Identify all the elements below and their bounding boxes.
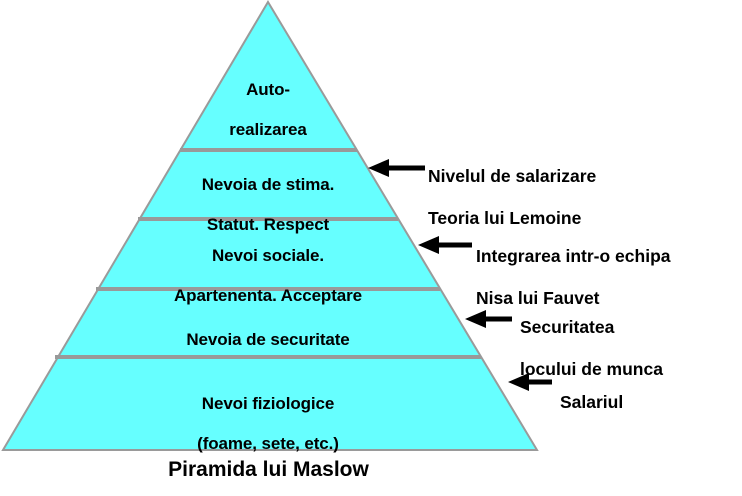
tier-label-line: Nevoia de stima.: [118, 175, 418, 195]
annotation-line: Integrarea intr-o echipa: [476, 246, 742, 267]
annotation-label-physiological: Salariul: [560, 371, 742, 434]
tier-label-line: Auto-: [118, 80, 418, 100]
tier-label-line: Nevoi fiziologice: [90, 394, 446, 414]
maslow-pyramid-diagram: Auto- realizarea Nevoia de stima. Statut…: [0, 0, 742, 496]
tier-label-self-actualization: Auto- realizarea: [118, 60, 418, 160]
tier-label-line: Apartenenta. Acceptare: [90, 286, 446, 306]
tier-label-line: (foame, sete, etc.): [90, 434, 446, 454]
annotation-line: Nivelul de salarizare: [428, 166, 728, 187]
tier-label-line: realizarea: [118, 120, 418, 140]
annotation-line: Securitatea: [520, 317, 742, 338]
tier-label-line: Nevoia de securitate: [90, 330, 446, 350]
annotation-line: Salariul: [560, 392, 742, 413]
diagram-caption: Piramida lui Maslow: [0, 458, 537, 482]
tier-label-line: Nevoi sociale.: [90, 246, 446, 266]
tier-label-safety: Nevoia de securitate: [90, 310, 446, 370]
